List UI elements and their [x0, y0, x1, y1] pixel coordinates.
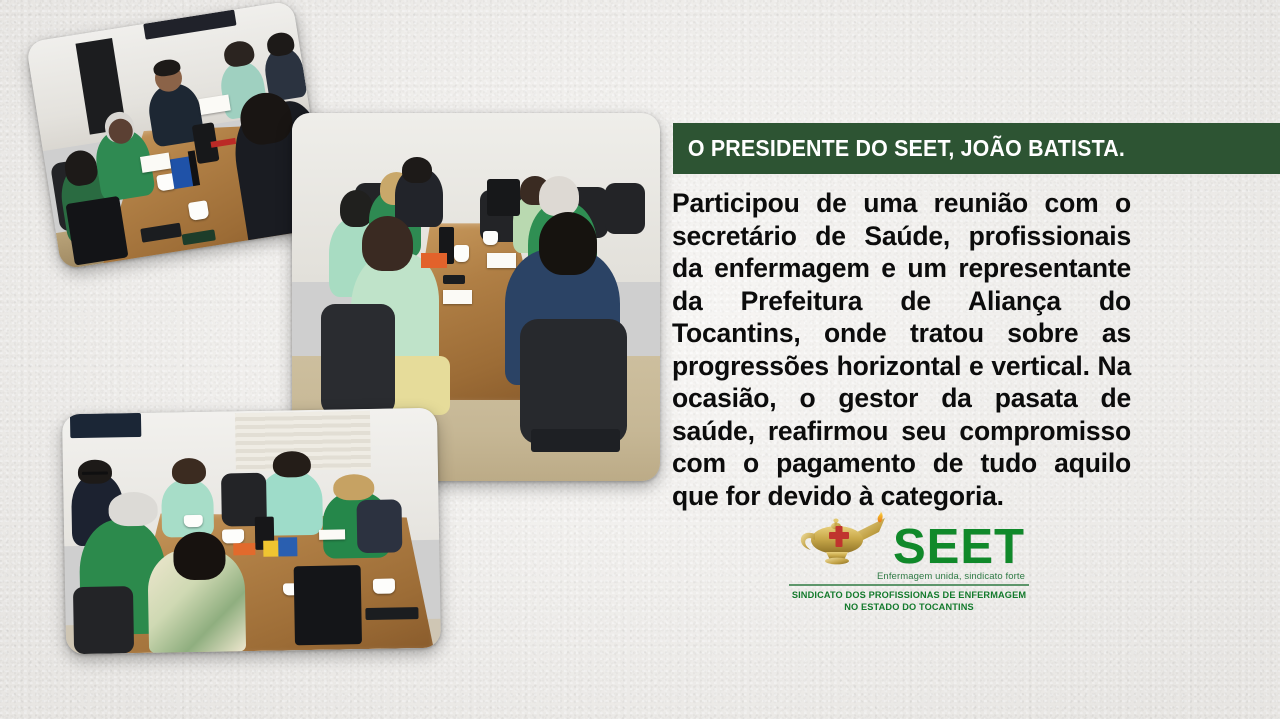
monitor-screen: [487, 179, 520, 216]
headline-text: O PRESIDENTE DO SEET, JOÃO BATISTA.: [673, 135, 1125, 162]
seet-logo[interactable]: SEET Enfermagem unida, sindicato forte S…: [789, 508, 1029, 613]
coffee-cup: [221, 529, 244, 544]
phone-device: [443, 275, 465, 284]
chair: [605, 183, 645, 235]
folder-blue: [278, 537, 297, 557]
chair-foreground: [321, 304, 395, 414]
paper-sheet: [443, 290, 472, 305]
person-hair-gray: [108, 492, 157, 526]
person-hair: [539, 212, 598, 275]
photo-top-left-scene: [26, 0, 329, 269]
person-hair-gray: [539, 176, 579, 216]
person-hair: [273, 451, 311, 478]
person-hair-blond: [333, 474, 375, 501]
photo-bottom-left-scene: [62, 408, 441, 655]
person-hair: [340, 190, 373, 227]
person-hair: [171, 457, 205, 484]
chair-foreground: [520, 319, 627, 444]
body-copy: Participou de uma reunião com o secretár…: [672, 187, 1131, 512]
person-hair: [173, 531, 226, 580]
seet-wordmark: SEET: [893, 525, 1025, 570]
photo-bottom-left[interactable]: [62, 408, 441, 655]
paper-sheet: [487, 253, 516, 268]
chair: [356, 500, 402, 554]
person-hair: [402, 157, 431, 183]
bag-black: [65, 196, 128, 266]
paper-sheet: [319, 529, 345, 539]
logo-row: SEET: [789, 508, 1029, 570]
logo-subtitle-line2: NO ESTADO DO TOCANTINS: [789, 601, 1029, 613]
poster-canvas: O PRESIDENTE DO SEET, JOÃO BATISTA. Part…: [0, 0, 1280, 719]
logo-subtitle-line1: SINDICATO DOS PROFISSIONAS DE ENFERMAGEM: [789, 589, 1029, 601]
person-hair: [362, 216, 414, 271]
headline-banner: O PRESIDENTE DO SEET, JOÃO BATISTA.: [673, 123, 1280, 174]
tv-screen: [69, 413, 141, 438]
tablet-device: [365, 607, 418, 620]
bag-black: [293, 565, 362, 645]
coffee-cup: [454, 245, 469, 262]
chair-foreground: [72, 586, 133, 654]
orange-folder: [421, 253, 447, 268]
oil-lamp-with-red-cross-icon: [793, 510, 889, 570]
logo-tagline: Enfermagem unida, sindicato forte: [789, 571, 1029, 582]
folder-orange: [233, 543, 256, 555]
coffee-cup: [483, 231, 498, 246]
logo-divider: [789, 584, 1029, 586]
coffee-cup: [184, 515, 203, 527]
coffee-cup: [372, 579, 395, 594]
photo-top-left[interactable]: [26, 0, 329, 269]
chair-base: [531, 429, 619, 451]
body-paragraph: Participou de uma reunião com o secretár…: [672, 187, 1131, 512]
person-seated: [161, 479, 214, 538]
